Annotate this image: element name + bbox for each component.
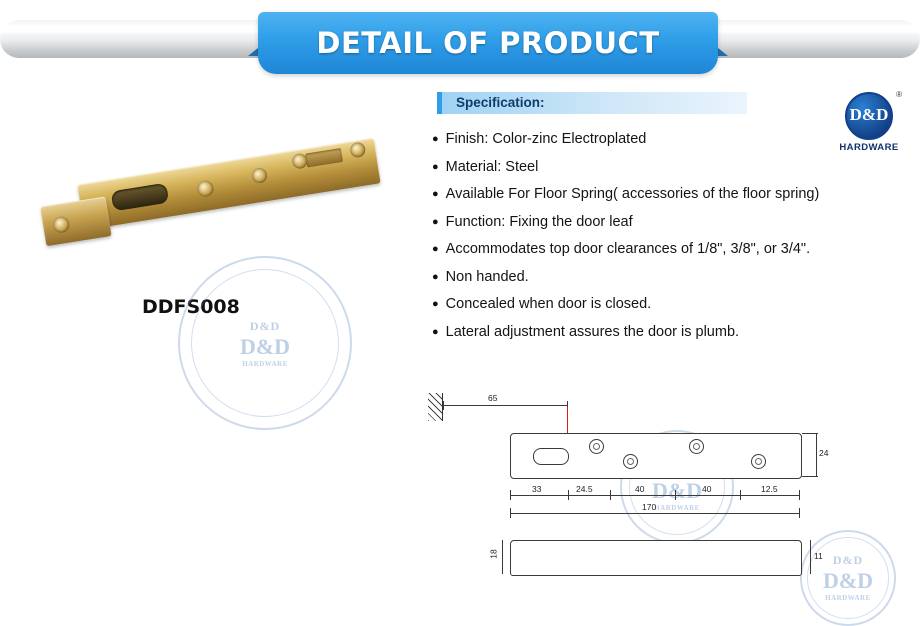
side-view (510, 540, 802, 576)
bullet-icon: ● (432, 158, 439, 176)
watermark-mid-text: D&D (240, 334, 290, 360)
spec-item-text: Concealed when door is closed. (446, 295, 652, 313)
spec-item-text: Accommodates top door clearances of 1/8"… (446, 240, 810, 258)
dimension-tick (675, 490, 676, 500)
product-photo (10, 118, 410, 298)
plan-hole-icon (751, 454, 766, 469)
dimension-tick (799, 508, 800, 518)
spec-item-text: Finish: Color-zinc Electroplated (446, 130, 647, 148)
spec-item-text: Non handed. (446, 268, 529, 286)
dimension-label-total-length: 170 (642, 502, 656, 512)
screw-hole-icon (349, 141, 366, 158)
dimension-label-d5: 12.5 (761, 484, 778, 494)
screw-hole-icon (251, 167, 268, 184)
banner-title: DETAIL OF PRODUCT (316, 26, 659, 60)
dimension-tick (799, 490, 800, 500)
spec-item-text: Lateral adjustment assures the door is p… (446, 323, 739, 341)
spec-item: ● Accommodates top door clearances of 1/… (432, 240, 912, 258)
dimension-line (510, 513, 800, 514)
dimension-line (510, 495, 800, 496)
bar-body (77, 138, 381, 230)
dimension-label-d2: 24.5 (576, 484, 593, 494)
dimension-line (443, 405, 568, 406)
dimension-tick (568, 490, 569, 500)
plan-hole-icon (689, 439, 704, 454)
bullet-icon: ● (432, 295, 439, 313)
dimension-tick (510, 490, 511, 500)
product-bar-graphic (35, 120, 385, 264)
screw-hole-icon (196, 180, 214, 198)
dimension-label-side-left: 18 (489, 549, 499, 558)
dimension-tick (802, 476, 818, 477)
dimension-label-side-right: 11 (814, 551, 823, 561)
spec-item-text: Available For Floor Spring( accessories … (446, 185, 820, 203)
dimension-label-d3: 40 (635, 484, 644, 494)
bullet-icon: ● (432, 130, 439, 148)
dimension-line (502, 540, 503, 574)
spec-item-text: Material: Steel (446, 158, 539, 176)
screw-hole-icon (52, 216, 70, 234)
logo-mark: D&D (847, 105, 891, 125)
plan-hole-icon (589, 439, 604, 454)
dimension-tick (510, 508, 511, 518)
technical-drawing: 65 24 33 24.5 40 40 12.5 170 18 (410, 385, 910, 610)
banner-plate: DETAIL OF PRODUCT (258, 12, 718, 74)
dimension-label-height: 24 (819, 448, 828, 458)
spec-item-text: Function: Fixing the door leaf (446, 213, 633, 231)
spec-item: ● Available For Floor Spring( accessorie… (432, 185, 912, 203)
bullet-icon: ● (432, 240, 439, 258)
registered-icon: ® (896, 90, 902, 99)
dimension-tick (610, 490, 611, 500)
watermark-bottom-text: HARDWARE (242, 360, 288, 368)
spec-item: ● Concealed when door is closed. (432, 295, 912, 313)
dimension-label-d1: 33 (532, 484, 541, 494)
dimension-line (810, 540, 811, 574)
bullet-icon: ● (432, 213, 439, 231)
wall-hatch-icon (428, 393, 443, 421)
dimension-tick (740, 490, 741, 500)
dimension-tick (802, 433, 818, 434)
dimension-tick (443, 401, 444, 410)
spec-item: ● Non handed. (432, 268, 912, 286)
bullet-icon: ● (432, 185, 439, 203)
bullet-icon: ● (432, 268, 439, 286)
spec-item: ● Finish: Color-zinc Electroplated (432, 130, 912, 148)
specification-list: ● Finish: Color-zinc Electroplated ● Mat… (432, 130, 912, 350)
spec-item: ● Material: Steel (432, 158, 912, 176)
bar-recess (305, 148, 343, 167)
spec-item: ● Function: Fixing the door leaf (432, 213, 912, 231)
top-banner: DETAIL OF PRODUCT (0, 0, 920, 80)
dimension-label-offset-top: 65 (488, 393, 497, 403)
dimension-label-d4: 40 (702, 484, 711, 494)
plan-slot (533, 448, 569, 465)
plan-view (510, 433, 802, 479)
bar-end-tab (40, 196, 111, 246)
spec-item: ● Lateral adjustment assures the door is… (432, 323, 912, 341)
dimension-line (816, 433, 817, 477)
watermark-top-text: D&D (250, 319, 280, 334)
specification-header: Specification: (437, 92, 747, 114)
plan-hole-icon (623, 454, 638, 469)
bullet-icon: ● (432, 323, 439, 341)
specification-heading-text: Specification: (442, 92, 747, 110)
product-code: DDFS008 (142, 296, 240, 318)
